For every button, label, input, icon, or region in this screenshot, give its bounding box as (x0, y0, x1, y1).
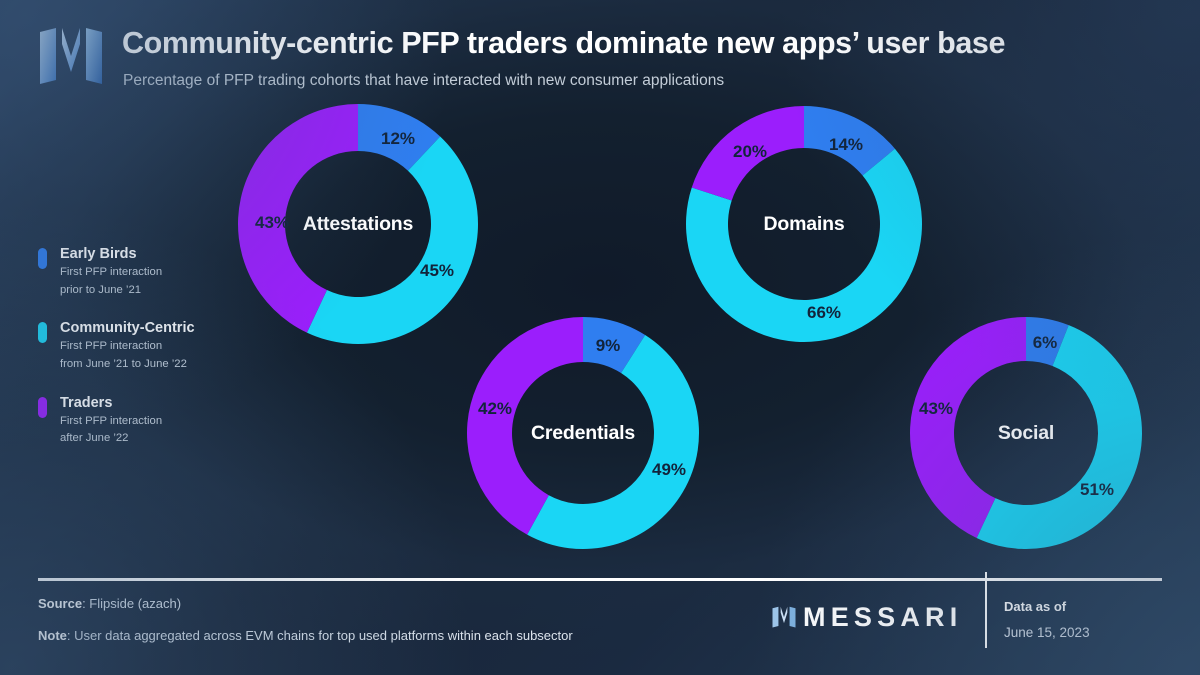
legend-item-label: Traders (60, 394, 253, 412)
legend-item-description-line2: after June ’22 (60, 430, 253, 447)
legend-item-community-centric: Community-CentricFirst PFP interactionfr… (38, 319, 253, 372)
legend-swatch-icon (38, 322, 47, 343)
donut-slice-traders (692, 106, 804, 201)
source-value: : Flipside (azach) (82, 596, 181, 611)
footer-vertical-divider (985, 572, 987, 648)
legend-item-traders: TradersFirst PFP interactionafter June ’… (38, 394, 253, 447)
messari-wordmark: MESSARI (770, 602, 962, 633)
legend-item-description-line2: prior to June ’21 (60, 282, 253, 299)
note-value: : User data aggregated across EVM chains… (67, 628, 573, 643)
page-title: Community-centric PFP traders dominate n… (122, 26, 1182, 61)
legend-item-early-birds: Early BirdsFirst PFP interactionprior to… (38, 245, 253, 298)
legend-item-label: Community-Centric (60, 319, 253, 337)
source-line: Source: Flipside (azach) (38, 596, 181, 611)
legend-item-description-line1: First PFP interaction (60, 413, 253, 430)
legend-swatch-icon (38, 248, 47, 269)
messari-m-logo-icon (770, 606, 798, 629)
infographic-canvas: Community-centric PFP traders dominate n… (0, 0, 1200, 675)
messari-m-logo-icon (38, 26, 104, 88)
source-label: Source (38, 596, 82, 611)
donut-chart-attestations: Attestations (235, 101, 481, 347)
messari-wordmark-text: MESSARI (803, 602, 962, 633)
header: Community-centric PFP traders dominate n… (0, 0, 1200, 104)
legend-item-description-line1: First PFP interaction (60, 264, 253, 281)
donut-chart-domains: Domains (683, 103, 925, 345)
legend-item-description-line2: from June ’21 to June ’22 (60, 356, 253, 373)
page-subtitle: Percentage of PFP trading cohorts that h… (123, 72, 1123, 90)
legend-item-label: Early Birds (60, 245, 253, 263)
legend-swatch-icon (38, 397, 47, 418)
legend-item-description-line1: First PFP interaction (60, 338, 253, 355)
footer-divider (38, 578, 1162, 581)
donut-chart-social: Social (907, 314, 1145, 552)
note-line: Note: User data aggregated across EVM ch… (38, 628, 573, 643)
donut-slice-community-centric (307, 137, 478, 344)
data-as-of-value: June 15, 2023 (1004, 625, 1090, 640)
donut-chart-credentials: Credentials (464, 314, 702, 552)
data-as-of-label: Data as of (1004, 599, 1066, 614)
legend: Early BirdsFirst PFP interactionprior to… (38, 245, 253, 468)
note-label: Note (38, 628, 67, 643)
